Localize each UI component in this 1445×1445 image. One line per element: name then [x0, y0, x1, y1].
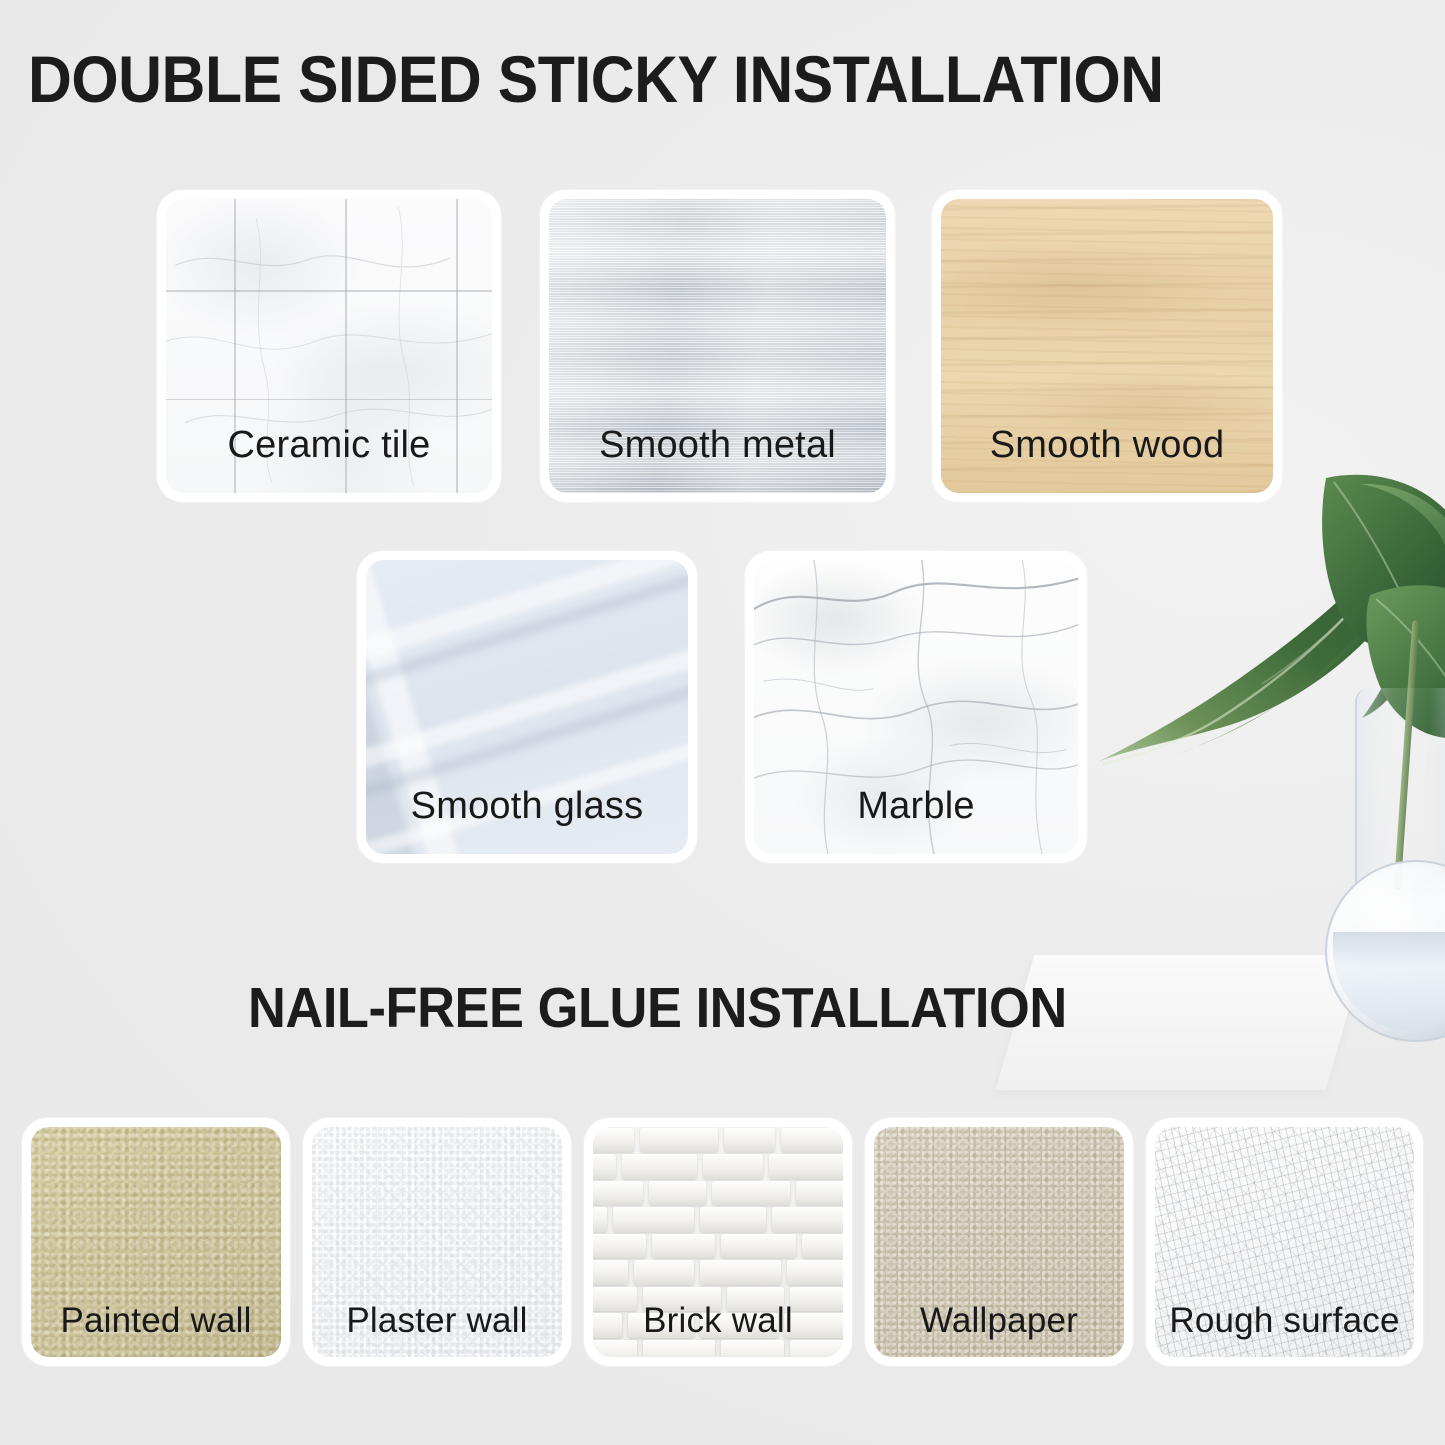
plant-decoration	[1085, 470, 1445, 1070]
section-heading-nail-free-glue: NAIL-FREE GLUE INSTALLATION	[248, 975, 1067, 1041]
surface-card-smooth-glass[interactable]: Smooth glass	[357, 551, 697, 863]
ceramic-tile-texture: Ceramic tile	[166, 199, 492, 493]
surface-label: Plaster wall	[312, 1301, 562, 1341]
glass-texture: Smooth glass	[366, 560, 688, 854]
painted-stucco-texture: Painted wall	[31, 1127, 281, 1357]
surface-label: Ceramic tile	[166, 424, 492, 467]
surface-card-rough-surface[interactable]: Rough surface	[1146, 1118, 1423, 1366]
wallpaper-texture: Wallpaper	[874, 1127, 1124, 1357]
surface-label: Marble	[754, 785, 1078, 828]
surface-label: Smooth wood	[941, 424, 1273, 467]
surface-card-smooth-metal[interactable]: Smooth metal	[540, 190, 895, 502]
surface-card-marble[interactable]: Marble	[745, 551, 1087, 863]
surface-label: Painted wall	[31, 1301, 281, 1341]
surface-card-painted-wall[interactable]: Painted wall	[22, 1118, 290, 1366]
surface-label: Brick wall	[593, 1301, 843, 1341]
plaster-texture: Plaster wall	[312, 1127, 562, 1357]
marble-texture: Marble	[754, 560, 1078, 854]
brushed-metal-texture: Smooth metal	[549, 199, 886, 493]
infographic-canvas: DOUBLE SIDED STICKY INSTALLATION NAIL-FR…	[0, 0, 1445, 1445]
surface-label: Smooth glass	[366, 785, 688, 828]
vase-water	[1333, 932, 1445, 1032]
whitewashed-brick-texture: Brick wall	[593, 1127, 843, 1357]
crackle-texture: Rough surface	[1155, 1127, 1414, 1357]
surface-card-plaster-wall[interactable]: Plaster wall	[303, 1118, 571, 1366]
vase-neck	[1355, 688, 1445, 888]
surface-card-brick-wall[interactable]: Brick wall	[584, 1118, 852, 1366]
surface-card-wallpaper[interactable]: Wallpaper	[865, 1118, 1133, 1366]
surface-label: Rough surface	[1155, 1301, 1414, 1341]
surface-card-smooth-wood[interactable]: Smooth wood	[932, 190, 1282, 502]
surface-card-ceramic-tile[interactable]: Ceramic tile	[157, 190, 501, 502]
surface-label: Smooth metal	[549, 424, 886, 467]
oak-wood-texture: Smooth wood	[941, 199, 1273, 493]
surface-label: Wallpaper	[874, 1301, 1124, 1341]
section-heading-double-sided-sticky: DOUBLE SIDED STICKY INSTALLATION	[28, 41, 1164, 117]
